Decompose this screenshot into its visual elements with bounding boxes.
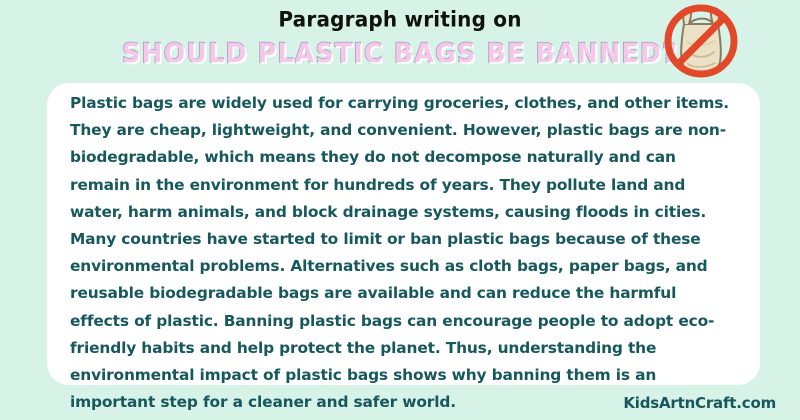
header: Paragraph writing on SHOULD PLASTIC BAGS… xyxy=(0,0,800,83)
paragraph-text: Plastic bags are widely used for carryin… xyxy=(70,90,738,416)
brand-watermark: KidsArtnCraft.com xyxy=(623,394,776,412)
paragraph-card: Plastic bags are widely used for carryin… xyxy=(47,83,760,385)
no-plastic-bag-icon xyxy=(658,2,744,80)
